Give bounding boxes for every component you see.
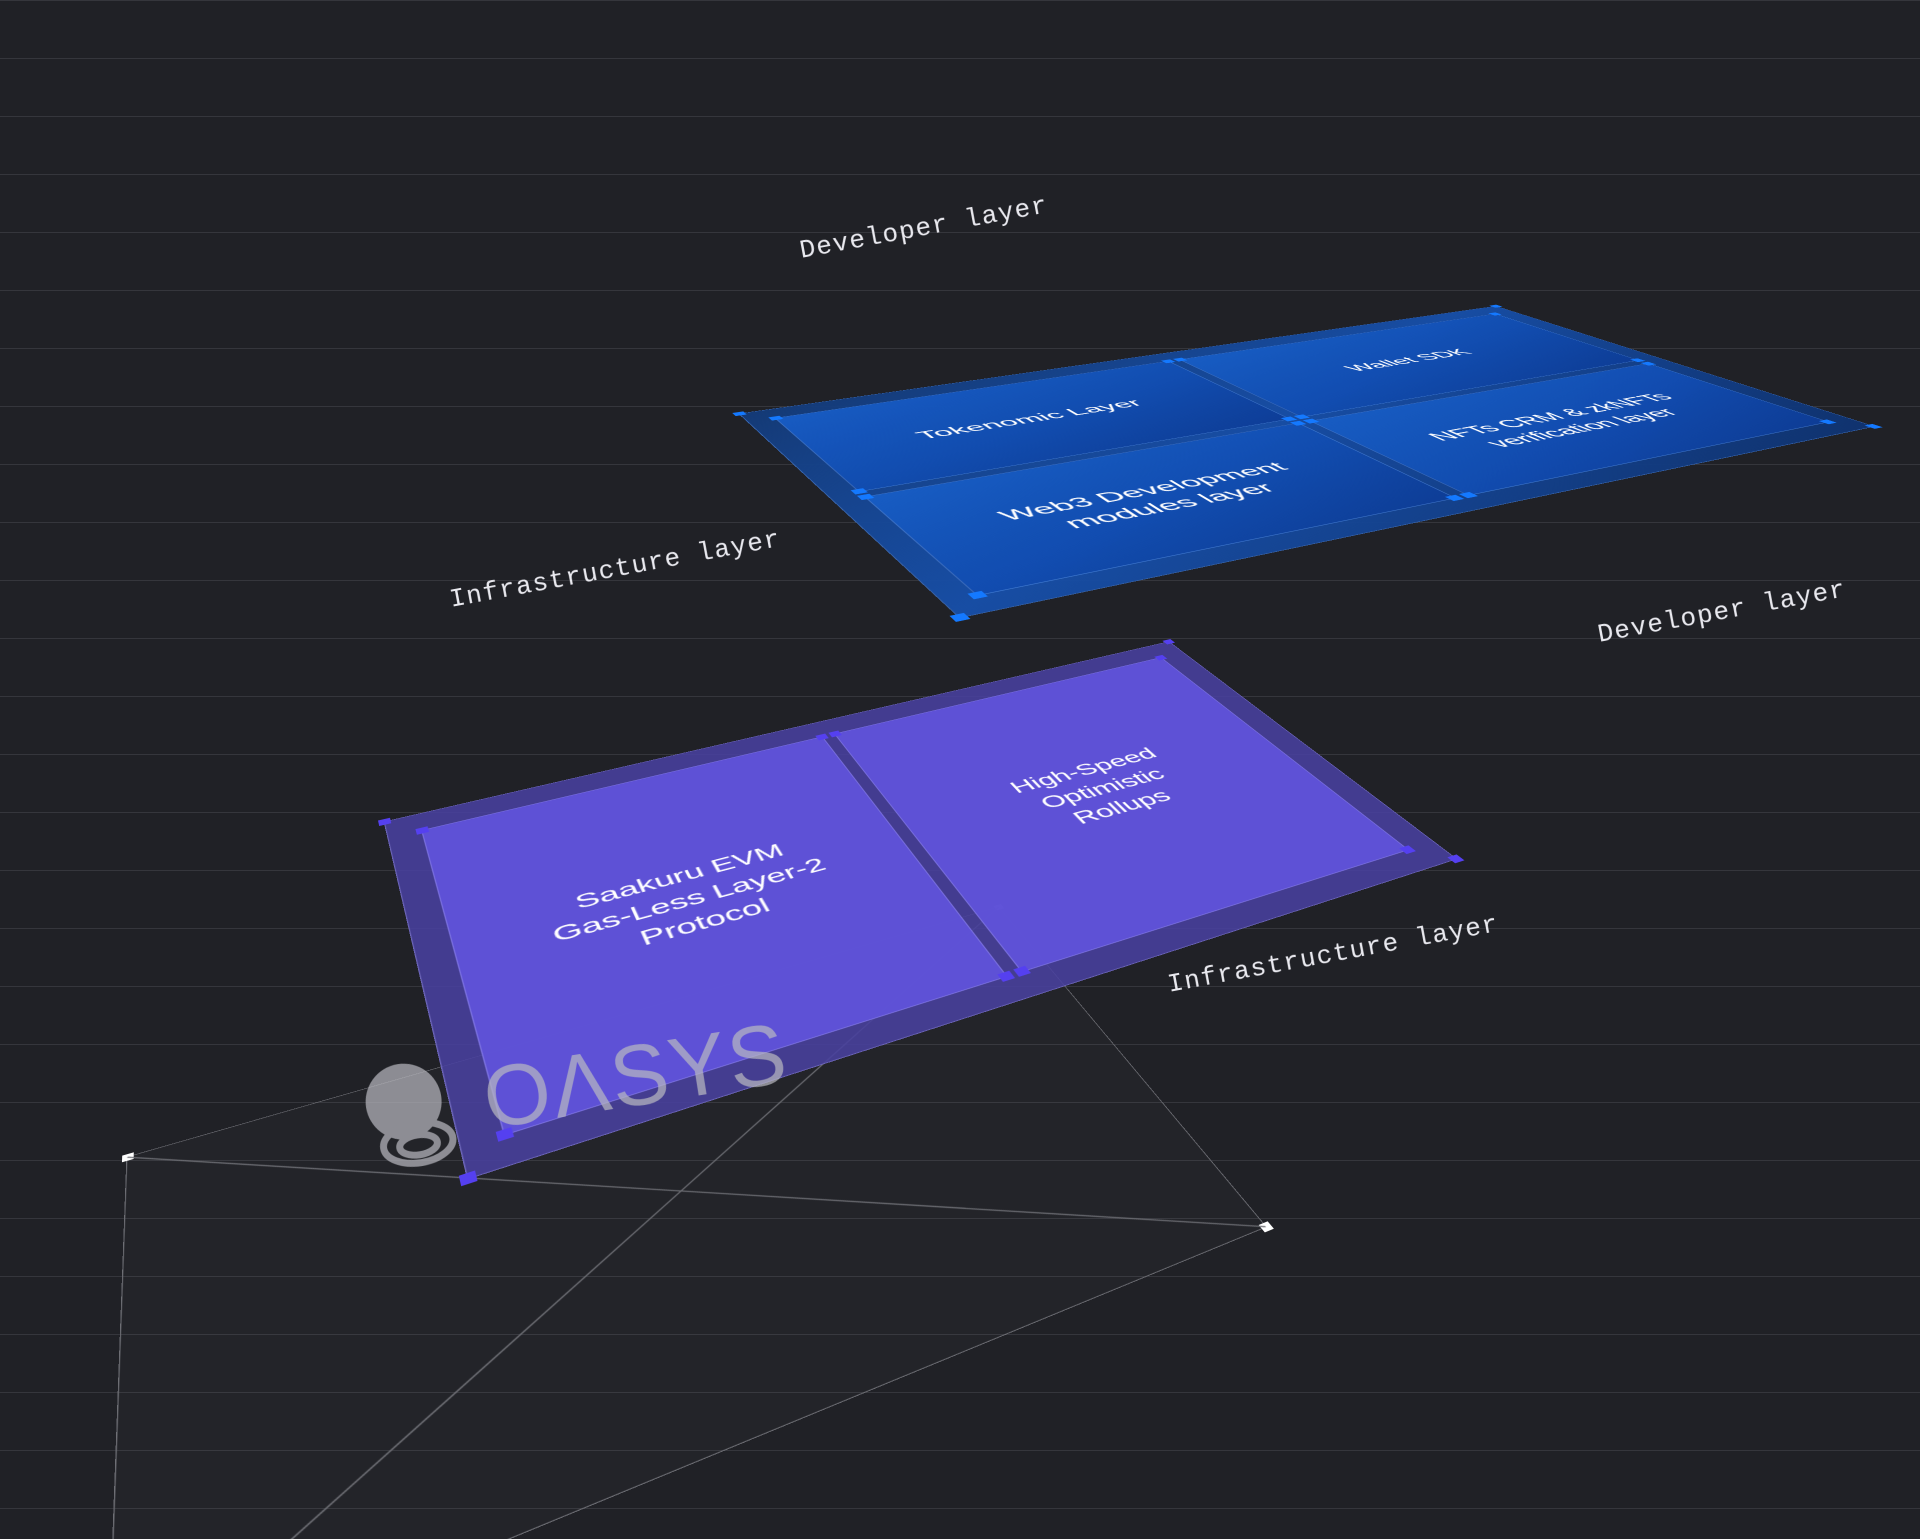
tile-web3-development-modules[interactable]: Web3 Development modules layer (864, 423, 1456, 596)
tile-handle-top-left[interactable] (857, 494, 874, 500)
tile-optimistic-rollups[interactable]: High-Speed Optimistic Rollups (834, 657, 1409, 972)
oasys-sphere-icon (343, 1044, 478, 1179)
tile-handle-top-right[interactable] (1154, 655, 1167, 661)
infrastructure-panel-handle-top-left[interactable] (378, 818, 391, 826)
diagram-canvas: Saakuru EVM Gas-Less Layer-2 Protocol Hi… (0, 0, 1920, 1539)
base-handle-top-left[interactable] (122, 1152, 134, 1162)
tile-tokenomic-layer-label: Tokenomic Layer (910, 397, 1149, 443)
tile-handle-top-left[interactable] (1303, 419, 1320, 424)
tile-handle-top-left[interactable] (768, 416, 783, 421)
tile-handle-bottom-right[interactable] (1281, 417, 1297, 422)
tile-handle-bottom-left[interactable] (967, 591, 988, 600)
tile-handle-bottom-right[interactable] (1445, 495, 1464, 501)
infrastructure-panel-handle-top-right[interactable] (1162, 639, 1175, 644)
tile-handle-top-right[interactable] (1488, 312, 1502, 315)
developer-layer-panel[interactable]: Tokenomic Layer Wallet SDK Web3 Developm… (738, 306, 1875, 618)
developer-panel-handle-top-left[interactable] (732, 411, 747, 416)
tile-handle-bottom-right[interactable] (1399, 845, 1416, 854)
developer-panel-handle-top-right[interactable] (1489, 305, 1502, 308)
tile-handle-top-right[interactable] (1641, 362, 1657, 366)
tile-wallet-sdk-label: Wallet SDK (1338, 347, 1479, 374)
tile-tokenomic-layer[interactable]: Tokenomic Layer (775, 361, 1291, 492)
tile-web3-development-modules-label: Web3 Development modules layer (991, 459, 1322, 542)
infrastructure-panel-handle-bottom-left[interactable] (459, 1170, 478, 1186)
tile-handle-bottom-right[interactable] (1819, 419, 1837, 424)
developer-panel-handle-bottom-left[interactable] (950, 613, 971, 622)
developer-panel-handle-bottom-right[interactable] (1865, 424, 1883, 429)
tile-handle-top-right[interactable] (1290, 421, 1307, 426)
tile-handle-bottom-left[interactable] (1459, 492, 1478, 498)
tile-handle-top-left[interactable] (415, 826, 429, 835)
tile-nfts-crm-zknfts-label: NFTs CRM & zkNFTs verification layer (1420, 390, 1714, 457)
tile-saakuru-evm-label: Saakuru EVM Gas-Less Layer-2 Protocol (540, 832, 846, 974)
tile-handle-top-right[interactable] (815, 734, 828, 741)
infrastructure-panel-handle-bottom-right[interactable] (1447, 854, 1464, 863)
tile-handle-bottom-left[interactable] (1013, 966, 1031, 977)
tile-handle-top-right[interactable] (1161, 359, 1175, 363)
tile-handle-bottom-right[interactable] (997, 971, 1015, 982)
developer-tile-grid: Tokenomic Layer Wallet SDK Web3 Developm… (775, 314, 1830, 596)
tile-handle-bottom-left[interactable] (851, 488, 868, 494)
tile-handle-top-left[interactable] (828, 730, 841, 737)
tile-optimistic-rollups-label: High-Speed Optimistic Rollups (1004, 744, 1204, 838)
